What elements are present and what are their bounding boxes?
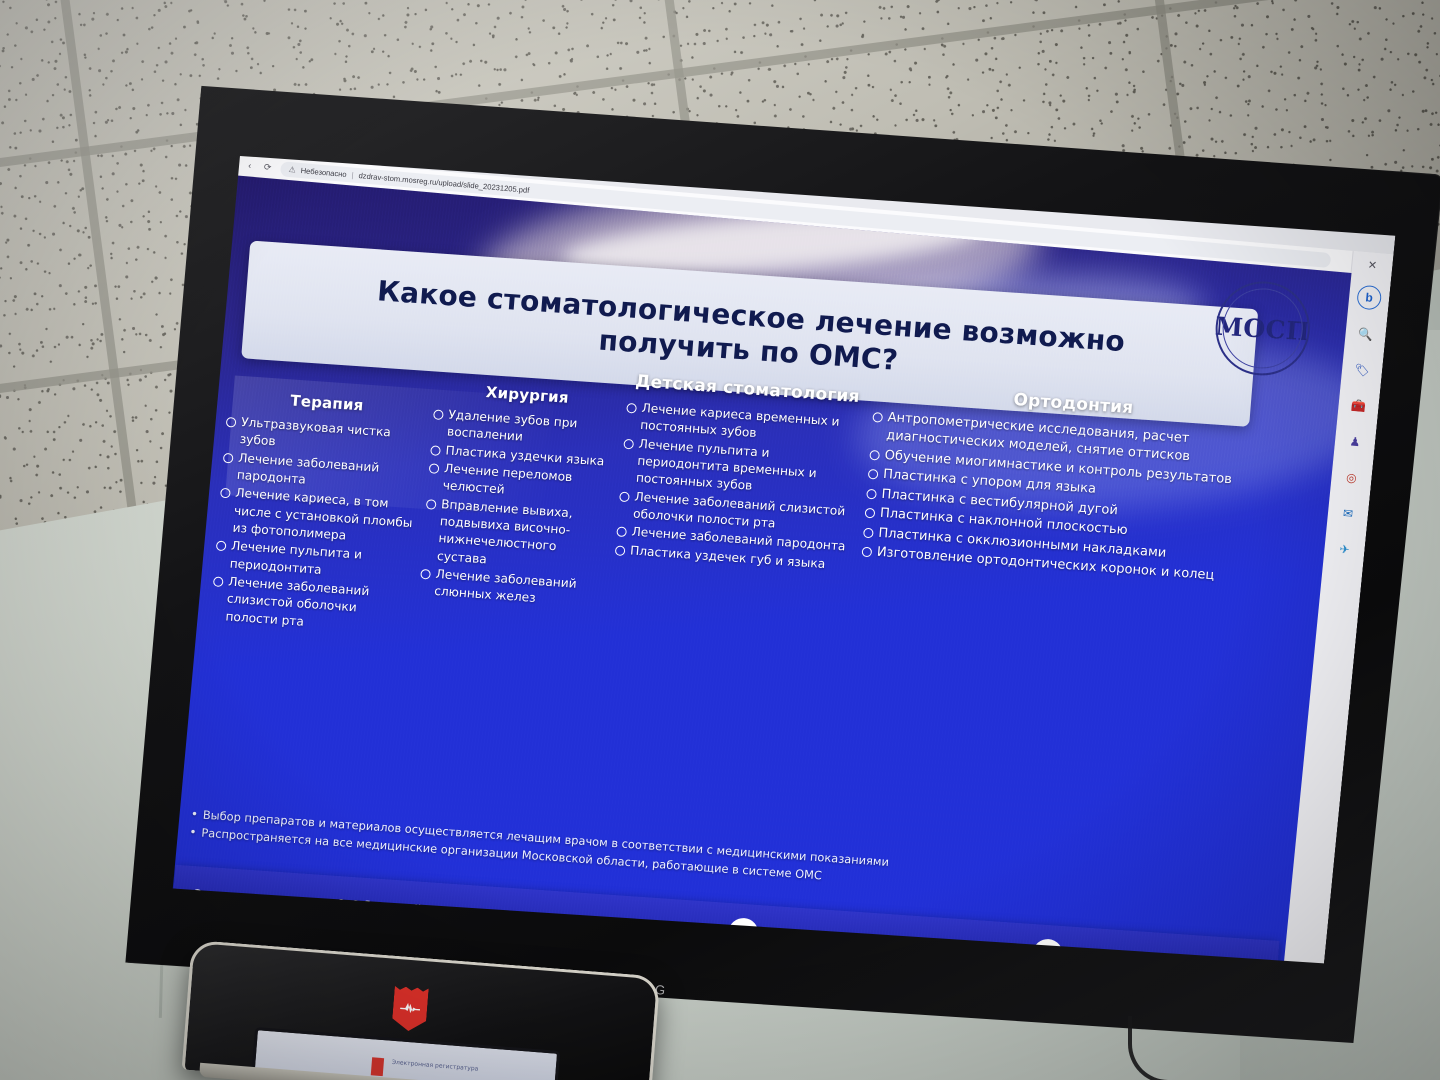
column-terapiya: Терапия Ультразвуковая чистка зубов Лече…	[194, 335, 431, 819]
column-hirurgiya: Хирургия Удаление зубов при воспалении П…	[400, 350, 623, 833]
edge-browser-window: Избранное × + ‹ ⟳ ⚠ Небезопасно | dzdrav…	[166, 132, 1396, 989]
reload-icon[interactable]: ⟳	[262, 162, 273, 173]
kiosk-screen-logo-icon	[371, 1057, 384, 1076]
security-label: Небезопасно	[300, 166, 347, 179]
telegram-icon[interactable]: ✈	[1332, 537, 1356, 561]
column-heading: Хирургия	[434, 379, 621, 410]
kiosk-screen-text: Электронная регистратура	[392, 1059, 479, 1073]
photo-scene: LG Избранное × + ‹ ⟳	[0, 0, 1440, 1080]
service-list: Удаление зубов при воспалении Пластика у…	[418, 405, 619, 612]
wall-mounted-tv: LG Избранное × + ‹ ⟳	[110, 66, 1440, 1071]
service-list: Антропометрические исследования, расчет …	[860, 408, 1271, 589]
sidebar-close-icon[interactable]: ✕	[1367, 258, 1377, 272]
not-secure-warning-icon: ⚠	[288, 164, 296, 174]
shopping-tag-icon[interactable]: 🏷	[1350, 358, 1374, 382]
service-list: Ультразвуковая чистка зубов Лечение забо…	[209, 413, 426, 638]
services-columns: Терапия Ультразвуковая чистка зубов Лече…	[194, 335, 1319, 881]
service-list: Лечение кариеса временных и постоянных з…	[613, 399, 865, 575]
tv-power-cable	[1128, 1016, 1282, 1080]
back-icon[interactable]: ‹	[244, 160, 255, 171]
bing-copilot-icon[interactable]: b	[1356, 285, 1382, 311]
outlook-icon[interactable]: ✉	[1336, 502, 1360, 526]
url-separator: |	[351, 170, 354, 179]
games-icon[interactable]: ♟	[1343, 430, 1367, 454]
tools-icon[interactable]: 🧰	[1347, 394, 1371, 418]
office-icon[interactable]: ◎	[1340, 466, 1364, 490]
tv-screen: Избранное × + ‹ ⟳ ⚠ Небезопасно | dzdrav…	[166, 132, 1396, 989]
column-ortodontiya: Ортодонтия Антропометрические исследован…	[837, 380, 1274, 878]
column-detskaya-stomatologiya: Детская стоматология Лечение кариеса вре…	[591, 363, 868, 850]
search-icon[interactable]: 🔍	[1354, 323, 1378, 347]
list-item: Вправление вывиха, подвывиха височно-ниж…	[420, 495, 611, 577]
presentation-slide: Какое стоматологическое лечение возможно…	[166, 175, 1352, 985]
